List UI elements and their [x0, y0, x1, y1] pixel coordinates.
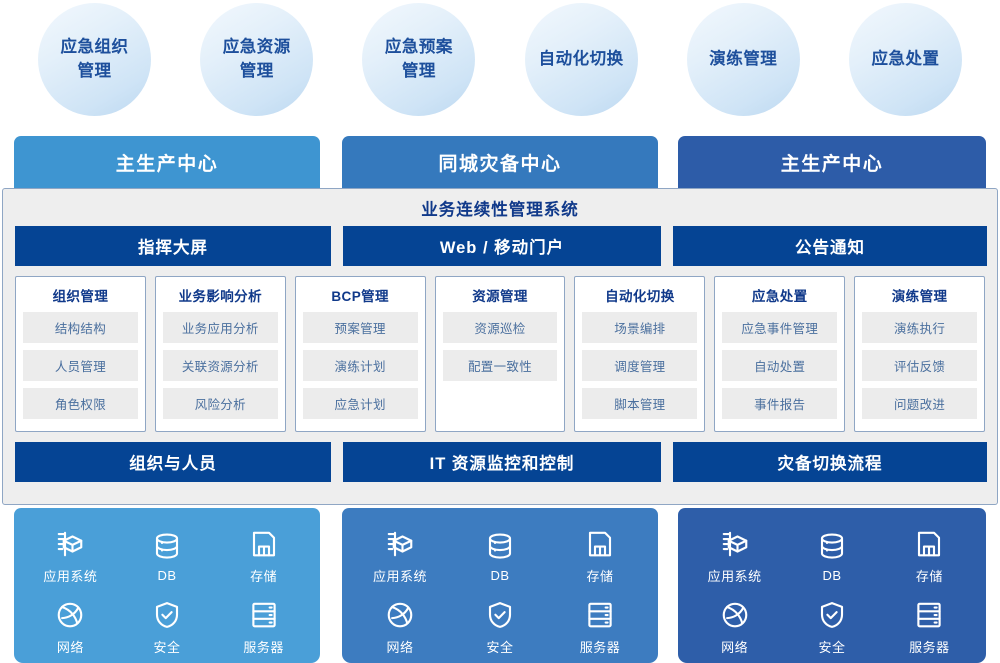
storage-icon: [914, 529, 944, 559]
bcm-system-container: 业务连续性管理系统 指挥大屏 Web / 移动门户 公告通知 组织管理 结构结构…: [2, 188, 998, 505]
network-globe-icon: [720, 600, 750, 630]
security-shield-icon: [152, 600, 182, 630]
database-icon: [817, 531, 847, 561]
module-cards-row: 组织管理 结构结构 人员管理 角色权限 业务影响分析 业务应用分析 关联资源分析…: [15, 276, 985, 432]
infra-item-server[interactable]: 服务器: [550, 600, 650, 656]
infra-item-security[interactable]: 安全: [119, 600, 216, 656]
capability-circle-1[interactable]: 应急资源 管理: [200, 3, 313, 116]
module-card-item[interactable]: 演练计划: [303, 350, 418, 381]
infrastructure-panel-metro-dr: 应用系统 DB 存储 网络 安全 服务器: [342, 508, 658, 663]
infra-item-label: 存储: [916, 566, 943, 585]
datacenter-header-primary[interactable]: 主生产中心: [14, 136, 320, 188]
module-card-item[interactable]: 结构结构: [23, 312, 138, 343]
infra-item-network[interactable]: 网络: [350, 600, 450, 656]
infra-item-application-system[interactable]: 应用系统: [686, 529, 783, 585]
capability-circle-label: 应急组织 管理: [61, 36, 129, 83]
portal-bar-row: 指挥大屏 Web / 移动门户 公告通知: [15, 226, 985, 266]
infra-item-database[interactable]: DB: [450, 531, 550, 583]
infra-item-label: DB: [822, 568, 841, 583]
portal-bar-web-mobile[interactable]: Web / 移动门户: [343, 226, 661, 266]
capability-circle-2[interactable]: 应急预案 管理: [362, 3, 475, 116]
infra-item-label: 网络: [721, 637, 748, 656]
module-card-org-management[interactable]: 组织管理 结构结构 人员管理 角色权限: [15, 276, 146, 432]
infra-item-label: 存储: [250, 566, 277, 585]
infra-item-label: 网络: [386, 637, 413, 656]
infra-item-label: 服务器: [909, 637, 950, 656]
capability-circles-row: 应急组织 管理 应急资源 管理 应急预案 管理 自动化切换 演练管理 应急处置: [0, 0, 1000, 125]
infra-item-network[interactable]: 网络: [686, 600, 783, 656]
module-card-item[interactable]: 问题改进: [862, 388, 977, 419]
infra-item-label: 安全: [818, 637, 845, 656]
module-card-title: 业务影响分析: [163, 285, 278, 305]
infra-item-label: 存储: [586, 566, 613, 585]
module-card-title: 自动化切换: [582, 285, 697, 305]
infrastructure-row: 应用系统 DB 存储 网络 安全 服务器: [0, 508, 1000, 663]
infra-item-storage[interactable]: 存储: [550, 529, 650, 585]
infra-item-storage[interactable]: 存储: [215, 529, 312, 585]
module-card-title: 资源管理: [443, 285, 558, 305]
module-card-emergency-response[interactable]: 应急处置 应急事件管理 自动处置 事件报告: [714, 276, 845, 432]
capability-circle-3[interactable]: 自动化切换: [525, 3, 638, 116]
infra-item-security[interactable]: 安全: [783, 600, 880, 656]
network-globe-icon: [55, 600, 85, 630]
module-card-item[interactable]: 应急事件管理: [722, 312, 837, 343]
module-card-title: BCP管理: [303, 285, 418, 305]
infra-item-label: 服务器: [580, 637, 621, 656]
module-card-item[interactable]: 演练执行: [862, 312, 977, 343]
server-rack-icon: [585, 600, 615, 630]
module-card-title: 应急处置: [722, 285, 837, 305]
infra-item-security[interactable]: 安全: [450, 600, 550, 656]
infra-item-application-system[interactable]: 应用系统: [22, 529, 119, 585]
footer-bar-row: 组织与人员 IT 资源监控和控制 灾备切换流程: [15, 442, 985, 482]
infrastructure-panel-primary: 应用系统 DB 存储 网络 安全 服务器: [14, 508, 320, 663]
module-card-automated-switchover[interactable]: 自动化切换 场景编排 调度管理 脚本管理: [574, 276, 705, 432]
infra-item-network[interactable]: 网络: [22, 600, 119, 656]
database-icon: [152, 531, 182, 561]
datacenter-header-metro-dr[interactable]: 同城灾备中心: [342, 136, 658, 188]
footer-bar-org-and-people[interactable]: 组织与人员: [15, 442, 331, 482]
module-card-item[interactable]: 关联资源分析: [163, 350, 278, 381]
module-card-item[interactable]: 角色权限: [23, 388, 138, 419]
architecture-diagram: 应急组织 管理 应急资源 管理 应急预案 管理 自动化切换 演练管理 应急处置 …: [0, 0, 1000, 663]
module-card-item[interactable]: 应急计划: [303, 388, 418, 419]
storage-icon: [585, 529, 615, 559]
module-card-item[interactable]: 调度管理: [582, 350, 697, 381]
capability-circle-5[interactable]: 应急处置: [849, 3, 962, 116]
infra-item-server[interactable]: 服务器: [215, 600, 312, 656]
network-globe-icon: [385, 600, 415, 630]
capability-circle-label: 应急预案 管理: [385, 36, 453, 83]
module-card-item[interactable]: 评估反馈: [862, 350, 977, 381]
module-card-item[interactable]: 场景编排: [582, 312, 697, 343]
portal-bar-command-screen[interactable]: 指挥大屏: [15, 226, 331, 266]
system-title: 业务连续性管理系统: [3, 189, 997, 226]
footer-bar-dr-switch-flow[interactable]: 灾备切换流程: [673, 442, 987, 482]
capability-circle-4[interactable]: 演练管理: [687, 3, 800, 116]
server-rack-icon: [249, 600, 279, 630]
application-system-icon: [720, 529, 750, 559]
security-shield-icon: [485, 600, 515, 630]
server-rack-icon: [914, 600, 944, 630]
infrastructure-panel-primary-2: 应用系统 DB 存储 网络 安全 服务器: [678, 508, 986, 663]
module-card-item[interactable]: 人员管理: [23, 350, 138, 381]
infra-item-server[interactable]: 服务器: [881, 600, 978, 656]
infra-item-label: 服务器: [243, 637, 284, 656]
infra-item-label: 应用系统: [373, 566, 427, 585]
application-system-icon: [385, 529, 415, 559]
module-card-title: 演练管理: [862, 285, 977, 305]
infra-item-label: DB: [157, 568, 176, 583]
module-card-item[interactable]: 资源巡检: [443, 312, 558, 343]
module-card-item[interactable]: 自动处置: [722, 350, 837, 381]
module-card-resource-management[interactable]: 资源管理 资源巡检 配置一致性: [435, 276, 566, 432]
infra-item-database[interactable]: DB: [119, 531, 216, 583]
portal-bar-announcement[interactable]: 公告通知: [673, 226, 987, 266]
application-system-icon: [55, 529, 85, 559]
module-card-item[interactable]: 风险分析: [163, 388, 278, 419]
infra-item-label: 安全: [486, 637, 513, 656]
infra-item-label: 应用系统: [708, 566, 762, 585]
database-icon: [485, 531, 515, 561]
infra-item-storage[interactable]: 存储: [881, 529, 978, 585]
module-card-item[interactable]: 业务应用分析: [163, 312, 278, 343]
infra-item-database[interactable]: DB: [783, 531, 880, 583]
footer-bar-it-monitoring[interactable]: IT 资源监控和控制: [343, 442, 661, 482]
security-shield-icon: [817, 600, 847, 630]
capability-circle-label: 应急处置: [871, 48, 939, 71]
infra-item-application-system[interactable]: 应用系统: [350, 529, 450, 585]
capability-circle-0[interactable]: 应急组织 管理: [38, 3, 151, 116]
module-card-item[interactable]: 事件报告: [722, 388, 837, 419]
infra-item-label: DB: [490, 568, 509, 583]
module-card-business-impact-analysis[interactable]: 业务影响分析 业务应用分析 关联资源分析 风险分析: [155, 276, 286, 432]
infra-item-label: 网络: [57, 637, 84, 656]
infra-item-label: 应用系统: [43, 566, 97, 585]
module-card-drill-management[interactable]: 演练管理 演练执行 评估反馈 问题改进: [854, 276, 985, 432]
storage-icon: [249, 529, 279, 559]
module-card-item[interactable]: 预案管理: [303, 312, 418, 343]
capability-circle-label: 应急资源 管理: [223, 36, 291, 83]
module-card-item[interactable]: 脚本管理: [582, 388, 697, 419]
infra-item-label: 安全: [153, 637, 180, 656]
datacenter-header-primary-2[interactable]: 主生产中心: [678, 136, 986, 188]
module-card-title: 组织管理: [23, 285, 138, 305]
capability-circle-label: 演练管理: [709, 48, 777, 71]
module-card-item[interactable]: 配置一致性: [443, 350, 558, 381]
capability-circle-label: 自动化切换: [539, 48, 624, 71]
datacenter-headers-row: 主生产中心 同城灾备中心 主生产中心: [0, 136, 1000, 188]
module-card-bcp-management[interactable]: BCP管理 预案管理 演练计划 应急计划: [295, 276, 426, 432]
